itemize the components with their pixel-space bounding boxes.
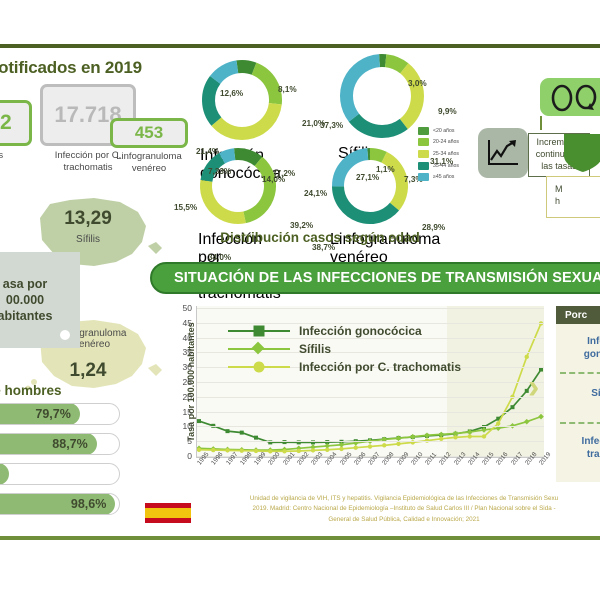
chart-legend-item: Sífilis (228, 340, 461, 358)
donut-slice (338, 186, 394, 218)
donut-slice-label: 1,1% (376, 165, 395, 174)
chart-gridline (197, 308, 544, 309)
chart-legend-marker (254, 362, 265, 373)
chart-data-point (525, 355, 529, 359)
legend-swatch (418, 150, 429, 158)
people-card-connector (540, 116, 542, 130)
chart-y-tick: 10 (178, 421, 192, 431)
donut-slice-label: 34,0% (208, 253, 231, 262)
donut-chart: 14,0%39,2%34,0%15,5%7,33%Infección por C… (198, 146, 278, 226)
legend-item: <20 años (418, 126, 459, 136)
chart-data-point (538, 414, 544, 420)
age-legend: <20 años20-24 años25-34 años35-44 años≥4… (418, 126, 459, 184)
chart-data-point (254, 436, 258, 440)
chart-y-tick: 35 (178, 347, 192, 357)
legend-item: 20-24 años (418, 138, 459, 148)
chart-legend-label: Infección gonocócica (299, 324, 422, 338)
chart-gridline (197, 426, 544, 427)
percent-bar-fill: 79,7% (0, 403, 80, 425)
kpi-sifilis-caption: ífilis (0, 150, 30, 162)
chart-data-point (325, 448, 329, 452)
infographic-root: os notificados en 2019 22 ífilis 17.718 … (0, 0, 600, 600)
chart-data-point (226, 429, 230, 433)
legend-label: 25-34 años (433, 151, 459, 157)
donut-slice (237, 67, 254, 69)
donut-slice-label: 24,1% (304, 189, 327, 198)
kpi-linfogranuloma-caption: Linfogranuloma venéreo (106, 151, 192, 175)
legend-item: ≥45 años (418, 172, 459, 182)
legend-item: 25-34 años (418, 149, 459, 159)
donut-slice-label: 7,33% (208, 167, 231, 176)
spain-flag-icon (145, 503, 191, 523)
cases-section-title: os notificados en 2019 (0, 58, 194, 78)
chart-data-point (197, 448, 201, 452)
donut-slice (222, 154, 235, 158)
kpi-sifilis: 22 (0, 100, 32, 146)
chart-data-point (225, 448, 229, 452)
chart-legend-item: Infección por C. trachomatis (228, 358, 461, 376)
chart-gridline (197, 441, 544, 442)
chart-legend: Infección gonocócicaSífilisInfección por… (228, 322, 461, 376)
chart-legend-label: Infección por C. trachomatis (299, 360, 461, 374)
right-panel-line-1: Infe gono (556, 336, 600, 361)
percent-bar-row: 5% (0, 463, 120, 485)
legend-label: <20 años (433, 128, 455, 134)
legend-label: 20-24 años (433, 139, 459, 145)
donut-slice (347, 61, 380, 118)
chart-data-point (197, 419, 201, 423)
chart-legend-marker (254, 344, 265, 355)
chart-data-point (396, 442, 400, 446)
chart-y-tick: 20 (178, 392, 192, 402)
callout-dot (60, 330, 70, 340)
chart-legend-label: Sífilis (299, 342, 331, 356)
percent-bar-row: 79,7% (0, 403, 120, 425)
footer-line-3: General de Salud Pública, Calidad e Inno… (208, 515, 600, 525)
chart-y-tick: 0 (178, 451, 192, 461)
kpi-linfogranuloma: 453 (110, 118, 188, 148)
chart-data-point (468, 434, 472, 438)
donut-slice (245, 161, 270, 217)
legend-swatch (418, 173, 429, 181)
percent-bar-fill: 88,7% (0, 433, 97, 455)
donut-slice-label: 39,2% (290, 221, 313, 230)
chart-y-tick: 5 (178, 436, 192, 446)
footer-citation: Unidad de vigilancia de VIH, ITS y hepat… (208, 494, 600, 525)
chart-y-tick: 15 (178, 407, 192, 417)
shield-icon (560, 132, 600, 174)
donut-slice-label: 15,5% (174, 203, 197, 212)
percent-bar-row: 98,6% (0, 493, 120, 515)
two-people-icon (548, 84, 600, 112)
donut-chart: 8,1%21,0%37,2%21,4%12,6%Infección gonocó… (200, 58, 284, 142)
legend-swatch (418, 138, 429, 146)
donut-slice (354, 118, 404, 132)
chart-y-tick: 25 (178, 377, 192, 387)
chart-data-point (240, 448, 244, 452)
map-linfogranuloma-value: 1,24 (48, 360, 128, 382)
donut-slice (215, 67, 237, 80)
map-sifilis-value: 13,29 (48, 208, 128, 230)
chart-legend-line (228, 348, 290, 351)
chart-data-point (297, 449, 301, 453)
donut-slice (206, 181, 245, 218)
chart-gridline (197, 397, 544, 398)
chart-gridline (197, 412, 544, 413)
percent-men-title: je de hombres (0, 383, 160, 398)
right-panel-line-2: Sí (556, 388, 600, 401)
chart-data-point (240, 431, 244, 435)
chart-data-point (254, 449, 258, 453)
chart-legend-line (228, 366, 290, 369)
donut-slice (254, 69, 275, 104)
right-panel-divider (560, 422, 600, 424)
chart-data-point (282, 449, 286, 453)
donut-slice-label: 9,9% (438, 107, 457, 116)
percent-bar-row: 88,7% (0, 433, 120, 455)
donut-slice (370, 154, 384, 157)
distribution-title: Distribución casos según edad (195, 230, 445, 245)
chart-data-point (496, 421, 500, 425)
footer-line-2: 2019. Madrid: Centro Nacional de Epidemi… (208, 504, 600, 514)
chart-legend-marker (254, 326, 265, 337)
donut-slice (338, 154, 368, 186)
donut-slice (235, 154, 259, 161)
legend-swatch (418, 127, 429, 135)
chart-data-point (268, 449, 272, 453)
chart-data-point (524, 419, 530, 425)
chart-legend-item: Infección gonocócica (228, 322, 461, 340)
donut-slice-label: 8,1% (278, 85, 297, 94)
trending-up-icon (487, 138, 520, 168)
chart-data-point (354, 446, 358, 450)
main-banner: SITUACIÓN DE LAS INFECCIONES DE TRANSMIS… (150, 262, 600, 294)
right-panel-divider (560, 372, 600, 374)
right-panel-line-3: Infecc trac (556, 436, 600, 461)
chart-gridline (197, 382, 544, 383)
partial-right-card: M h (546, 176, 600, 218)
percent-bar-fill: 98,6% (0, 493, 115, 515)
chart-data-point (368, 444, 372, 448)
chart-data-point (382, 443, 386, 447)
chart-data-point (482, 434, 486, 438)
percent-bar-value: 79,7% (35, 407, 70, 421)
chart-legend-line (228, 330, 290, 333)
chevron-right-icon: › (528, 368, 539, 407)
footer-line-1: Unidad de vigilancia de VIH, ITS y hepat… (208, 494, 600, 504)
donut-slice (216, 104, 275, 134)
right-panel-header: Porc (556, 306, 600, 324)
legend-item: 35-44 años (418, 161, 459, 171)
donut-slice-label: 37,3% (320, 121, 343, 130)
donut-slice (386, 61, 405, 69)
percent-bar-fill: 5% (0, 463, 9, 485)
legend-swatch (418, 162, 429, 170)
chart-y-tick: 30 (178, 362, 192, 372)
donut-slice-label: 12,6% (220, 89, 243, 98)
donut-slice (209, 80, 217, 122)
chart-y-tick: 45 (178, 318, 192, 328)
chart-data-point (453, 435, 457, 439)
legend-label: 35-44 años (433, 163, 459, 169)
donut-chart: 1,1%7,3%28,9%38,7%24,1%Linfogranuloma ve… (330, 146, 410, 226)
percent-bar-value: 98,6% (71, 497, 106, 511)
chart-y-tick: 40 (178, 333, 192, 343)
donut-chart: 3,0%9,9%31,1%27,1%37,3%Sífilis (338, 52, 426, 140)
chart-data-point (211, 448, 215, 452)
legend-label: ≥45 años (433, 174, 454, 180)
map-sifilis-label: Sífilis (48, 234, 128, 245)
chart-data-point (311, 448, 315, 452)
donut-slice-label: 14,0% (262, 175, 285, 184)
top-rule (0, 44, 600, 48)
chart-data-point (339, 447, 343, 451)
bottom-rule (0, 536, 600, 540)
chart-data-point (511, 405, 515, 409)
percent-bar-value: 88,7% (52, 437, 87, 451)
chart-y-tick: 50 (178, 303, 192, 313)
donut-slice-label: 3,0% (408, 79, 427, 88)
donut-slice (404, 68, 418, 124)
